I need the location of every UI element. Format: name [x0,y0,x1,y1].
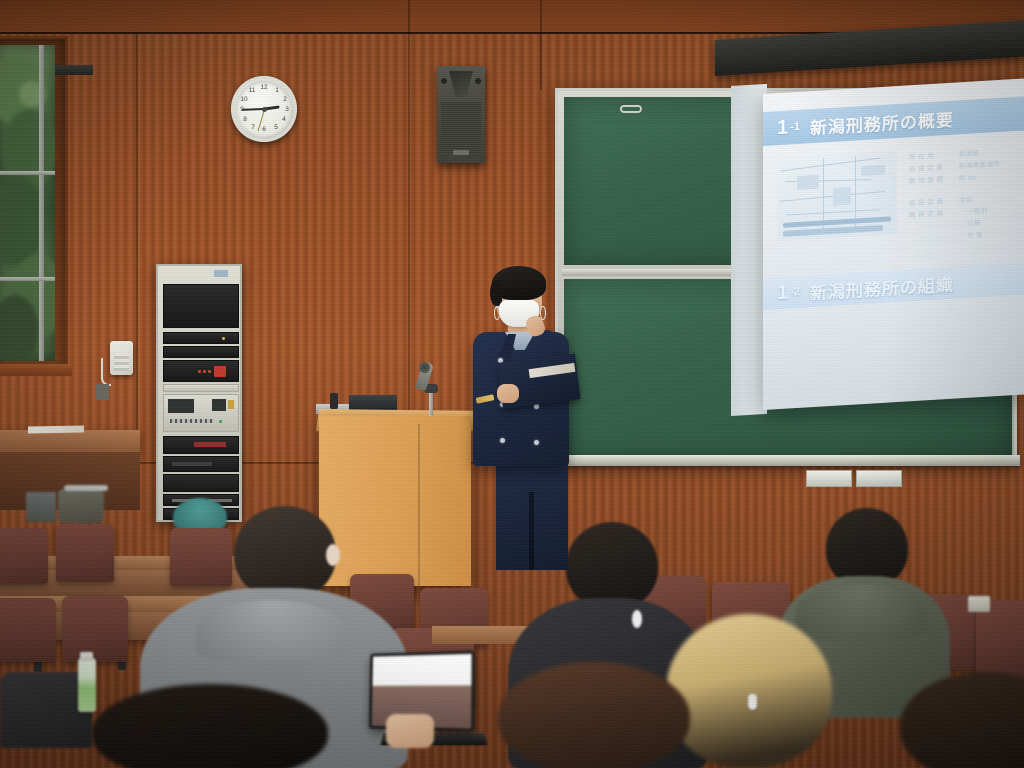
rack-warning-plate [214,366,226,377]
student-head [566,522,658,610]
wall-speaker [437,66,485,163]
presenter-hair [492,266,546,300]
phone-wall-box [96,384,109,400]
slide-title: 新潟刑務所の概要 [810,105,954,139]
clock-numeral: 10 [238,96,250,104]
drink-bottle[interactable] [78,658,96,712]
slide-row-label: 収 容 定 員 [909,161,943,173]
lecture-hall-photo: 12 1 2 3 4 5 6 7 8 9 10 11 [0,0,1024,768]
counter-papers [28,426,84,434]
slide-title: 新潟刑務所の組織 [810,270,954,304]
projector-screen-margin [731,84,767,416]
lecture-chair[interactable] [170,528,232,586]
rack-unit[interactable] [163,332,239,344]
clock-face: 12 1 2 3 4 5 6 7 8 9 10 11 [236,81,292,137]
slide-row-value: 収容 [959,194,973,205]
lecture-chair[interactable] [0,528,48,584]
slide-subnumber: -1 [790,121,800,134]
slide-row-label: 敷 地 面 積 [909,173,943,185]
side-chair[interactable] [58,489,104,523]
slide-row-label: 所 在 地 [909,150,934,161]
slide-title-bar-2: 1 -2 新潟刑務所の組織 [763,262,1024,310]
lectern-edge [418,424,420,586]
rack-unit[interactable] [163,346,239,358]
wall-telephone[interactable] [110,341,133,375]
desk-item [968,596,990,612]
rack-unit-amp[interactable] [163,360,239,382]
av-equipment-rack[interactable] [156,264,242,522]
chalkboard-handle[interactable] [620,105,642,113]
window-glass [0,45,55,361]
presenter-left-hand [497,384,519,403]
light-switch-panel[interactable] [856,470,902,487]
slide-row-label: 収 容 定 員 [909,195,943,207]
slide-subnumber: -2 [790,286,800,299]
phone-keypad[interactable] [114,353,129,371]
clock-minute-hand [242,108,264,111]
wall-seam [540,0,542,90]
slide-row-value: 新潟県 [959,147,980,158]
lectern [319,416,471,586]
bottle-cap [80,652,93,661]
slide-row-value: 作 業 [967,229,983,240]
clock-numeral: 3 [281,106,293,114]
student-head [234,506,336,600]
rack-unit-deck[interactable] [163,436,239,454]
clock-numeral: 12 [258,84,270,92]
window-sill [0,364,72,376]
chalk-tray [552,455,1020,466]
clock-numeral: 2 [279,96,291,104]
slide-row-label: 職 員 定 員 [909,207,943,219]
wall-seam [136,34,138,434]
rack-unit-deck[interactable] [163,456,239,472]
face-mask-strap [632,610,642,628]
slide-row-value: 分類 [967,217,981,228]
wall-seam [408,0,410,420]
rack-unit-deck[interactable] [163,474,239,492]
slide-row-value: 約 ha [959,171,976,182]
clock-numeral: 8 [239,116,251,124]
projection-screen: 1 -1 新潟刑務所の概要 所 在 地 新潟県 収 容 定 員 新潟県新潟市 敷… [763,78,1024,410]
slide-row-value: 一般刑 [967,205,988,216]
lectern-control-knob[interactable] [330,393,338,409]
slide-number: 1 [777,116,788,140]
rack-unit-monitor[interactable] [163,284,239,328]
lecture-chair[interactable] [62,596,128,662]
rack-unit[interactable] [163,384,239,392]
hoodie-hood [196,600,346,660]
student-brown-hair [498,662,690,768]
light-switch-panel[interactable] [806,470,852,487]
lecture-chair[interactable] [56,524,114,582]
rack-unit-mixer[interactable] [163,394,239,432]
slide-title-bar-1: 1 -1 新潟刑務所の概要 [763,96,1024,146]
student-hand [386,714,434,748]
student-ear [326,544,340,566]
wall-clock: 12 1 2 3 4 5 6 7 8 9 10 11 [231,76,297,142]
rack-label-tag [214,270,228,277]
speaker-horn-icon [449,71,473,97]
slide-row-value: 新潟県新潟市 [959,158,1000,170]
phone-cord [101,358,111,386]
clock-numeral: 4 [278,116,290,124]
wall-upper-band [0,0,1024,34]
clock-numeral: 5 [270,124,282,132]
slide-number: 1 [777,281,788,305]
presenter-leg-gap [529,492,534,570]
student-blonde-earbud [666,614,832,768]
lecture-chair[interactable] [0,598,56,662]
waste-bin [26,492,56,522]
slide-map-diagram [777,150,897,241]
front-counter [0,430,140,454]
clock-numeral: 11 [246,87,258,95]
earbud-icon [748,694,757,710]
window [0,36,68,372]
clock-center-pin [262,107,267,112]
side-chair-armrest [64,485,108,491]
clock-numeral: 1 [271,87,283,95]
lecture-chair[interactable] [976,600,1024,680]
hoodie-hood [796,584,926,640]
speaker-logo [453,150,469,155]
speaker-grille [441,102,481,154]
